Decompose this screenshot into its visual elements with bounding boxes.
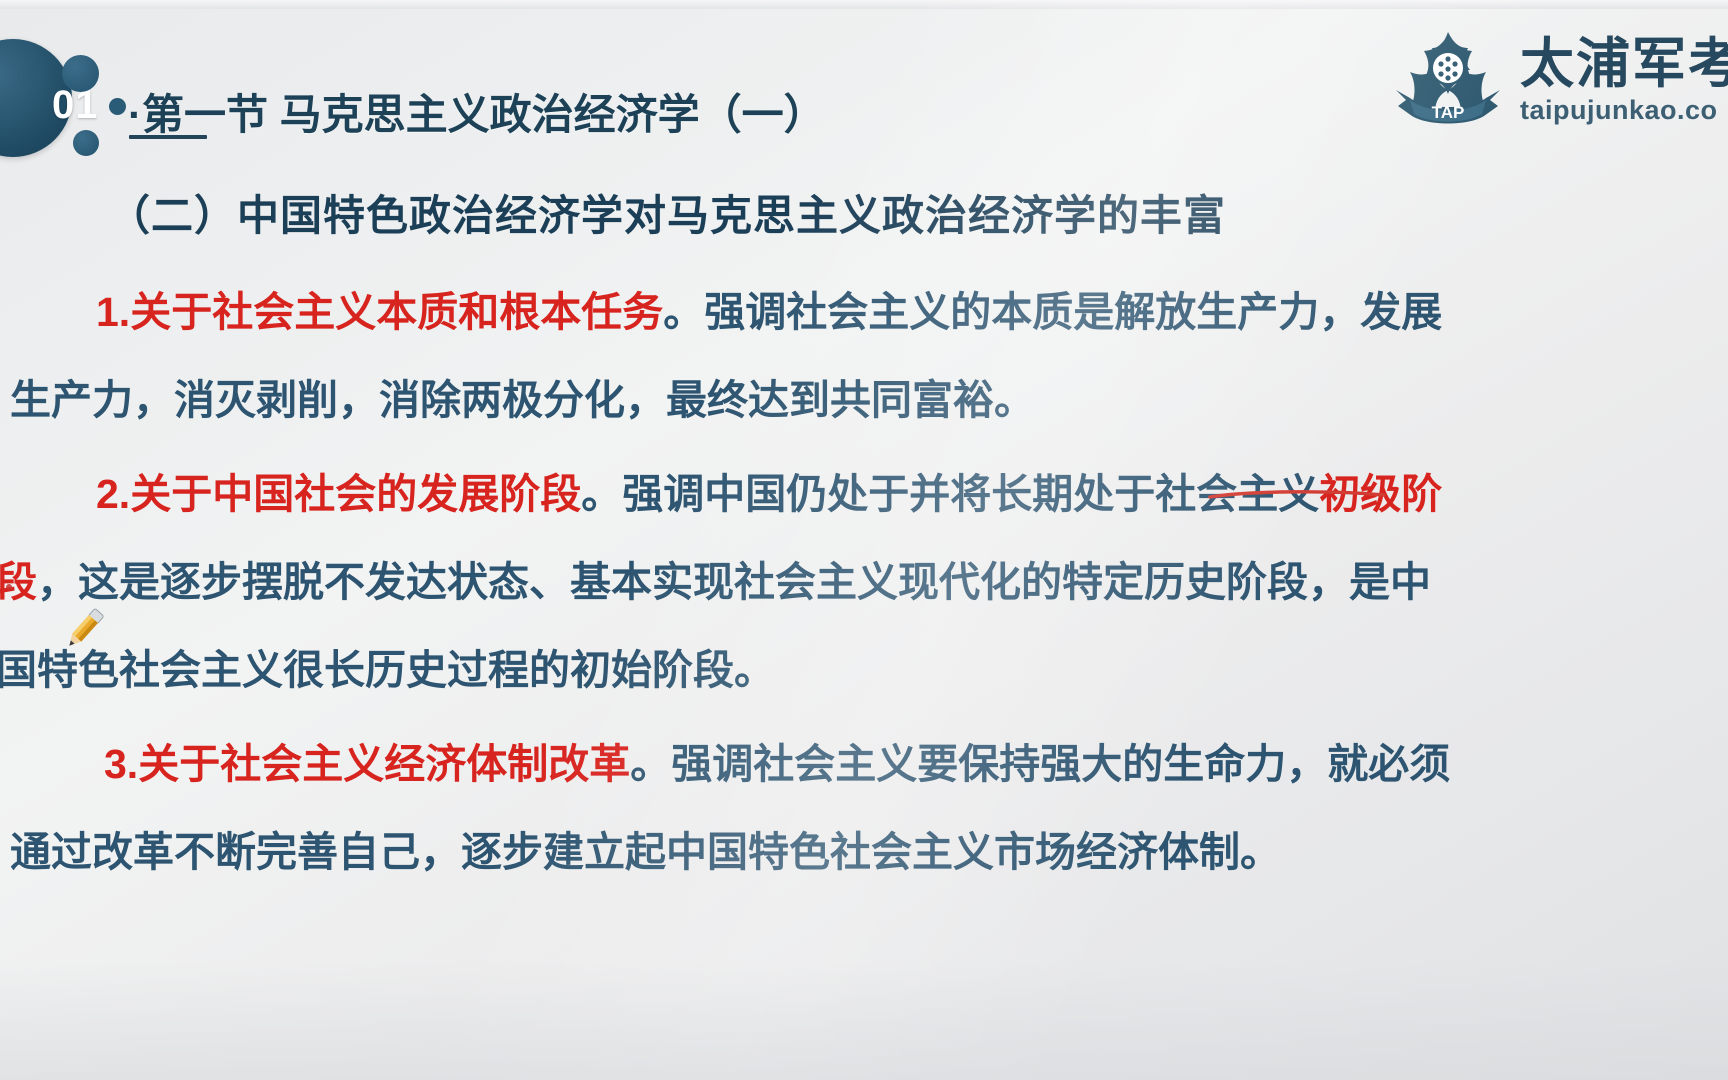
point-2-index: 2.	[96, 471, 130, 517]
point-2-red-head: 段	[0, 559, 37, 605]
margin-ink-dot	[6, 584, 12, 590]
brand-logo: TAP 太浦军考 taipujunkao.co	[1390, 25, 1728, 135]
point-1-lead: 关于社会主义本质和根本任务	[130, 289, 663, 335]
point-2-line-1-rest: 。强调中国仍处于并将长期处于社会主义	[581, 471, 1319, 517]
point-3-lead: 关于社会主义经济体制改革	[138, 741, 630, 787]
point-2-line-3: 国特色社会主义很长历史过程的初始阶段。	[0, 626, 1724, 714]
decorative-dot-small	[109, 98, 126, 115]
slide-body: （二）中国特色政治经济学对马克思主义政治经济学的丰富 1.关于社会主义本质和根本…	[0, 160, 1728, 1080]
decorative-dot-medium	[73, 130, 99, 156]
section-title-underline	[129, 135, 207, 139]
pencil-cursor-icon[interactable]	[56, 600, 112, 656]
point-1-index: 1.	[96, 289, 130, 335]
point-3-line-1-rest: 。强调社会主义要保持强大的生命力，就必须	[630, 741, 1450, 787]
decorative-dot-large	[62, 55, 99, 92]
brand-website-url: taipujunkao.co	[1520, 97, 1728, 124]
point-2-lead: 关于中国社会的发展阶段	[130, 471, 581, 517]
top-strip	[0, 0, 1728, 9]
point-3-line-1: 3.关于社会主义经济体制改革。强调社会主义要保持强大的生命力，就必须	[104, 720, 1728, 808]
point-2-red-tail: 初级阶	[1319, 471, 1442, 517]
point-2-line-1: 2.关于中国社会的发展阶段。强调中国仍处于并将长期处于社会主义初级阶	[96, 450, 1728, 538]
brand-name-cn: 太浦军考	[1520, 37, 1728, 91]
point-3-index: 3.	[104, 741, 138, 787]
point-1-line-2: 生产力，消灭剥削，消除两极分化，最终达到共同富裕。	[10, 356, 1728, 444]
point-2-line-2-rest: ，这是逐步摆脱不发达状态、基本实现社会主义现代化的特定历史阶段，是中	[37, 559, 1431, 605]
logo-text-block: 太浦军考 taipujunkao.co	[1520, 37, 1728, 124]
point-1-line-1-rest: 。强调社会主义的本质是解放生产力，发展	[663, 289, 1442, 335]
logo-banner-text: TAP	[1432, 103, 1465, 122]
logo-emblem-icon: TAP	[1390, 28, 1506, 132]
point-2-line-2: 段，这是逐步摆脱不发达状态、基本实现社会主义现代化的特定历史阶段，是中	[0, 538, 1724, 626]
lecture-slide: 01 ·第一节 马克思主义政治经济学（一）	[0, 0, 1728, 1080]
point-1-line-1: 1.关于社会主义本质和根本任务。强调社会主义的本质是解放生产力，发展	[96, 268, 1728, 356]
slide-header: 01 ·第一节 马克思主义政治经济学（一）	[0, 9, 1728, 159]
section-title: ·第一节 马克思主义政治经济学（一）	[128, 81, 826, 142]
point-3-line-2: 通过改革不断完善自己，逐步建立起中国特色社会主义市场经济体制。	[10, 808, 1728, 896]
content-heading: （二）中国特色政治经济学对马克思主义政治经济学的丰富	[108, 182, 1226, 243]
